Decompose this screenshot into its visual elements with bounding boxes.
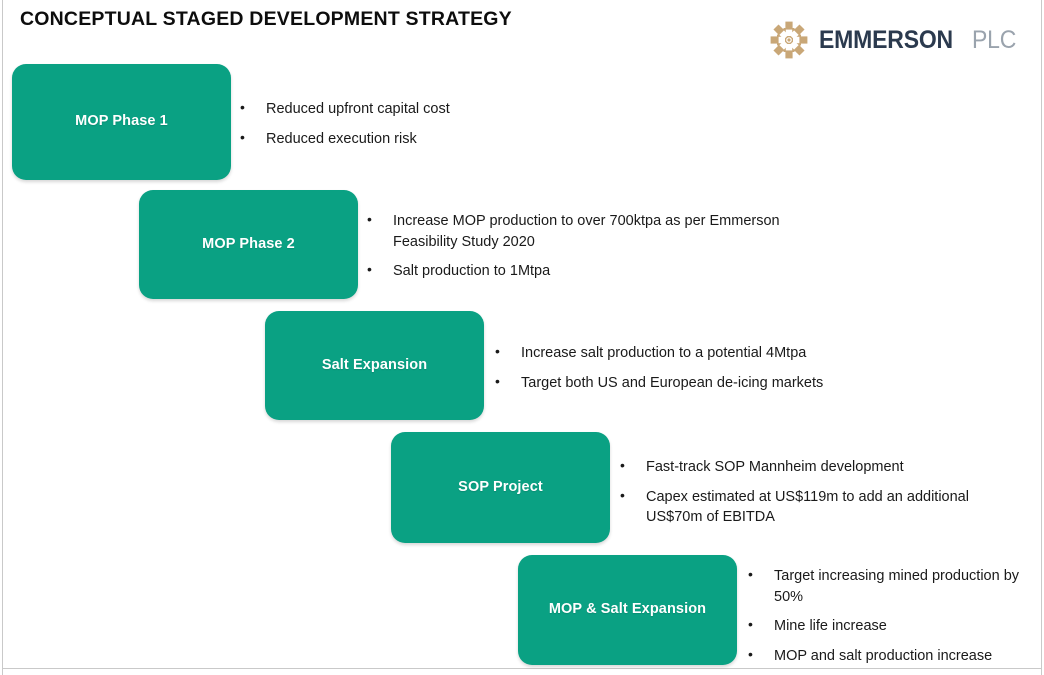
stage-3-box[interactable]: Salt Expansion bbox=[265, 311, 484, 420]
stage-5-label: MOP & Salt Expansion bbox=[549, 601, 706, 618]
list-item: Increase MOP production to over 700ktpa … bbox=[367, 211, 782, 252]
stage-1-bullets: Reduced upfront capital cost Reduced exe… bbox=[240, 99, 570, 149]
stage-4-label: SOP Project bbox=[458, 479, 543, 496]
mandala-rosette-icon bbox=[769, 20, 809, 60]
list-item: Reduced execution risk bbox=[240, 129, 570, 150]
stage-3-bullets: Increase salt production to a potential … bbox=[495, 343, 915, 393]
logo-word-plc: PLC bbox=[972, 26, 1016, 55]
slide-canvas: CONCEPTUAL STAGED DEVELOPMENT STRATEGY bbox=[0, 0, 1044, 675]
stage-5-box[interactable]: MOP & Salt Expansion bbox=[518, 555, 737, 665]
list-item: Reduced upfront capital cost bbox=[240, 99, 570, 120]
stage-2-label: MOP Phase 2 bbox=[202, 236, 295, 253]
company-logo: EMMERSON PLC bbox=[769, 20, 1020, 60]
list-item: Capex estimated at US$119m to add an add… bbox=[620, 487, 1020, 528]
list-item: MOP and salt production increase bbox=[748, 646, 1038, 667]
page-border-left bbox=[2, 0, 3, 675]
logo-wordmark: EMMERSON PLC bbox=[819, 26, 1020, 55]
logo-word-emmerson: EMMERSON bbox=[819, 26, 953, 55]
stage-4-box[interactable]: SOP Project bbox=[391, 432, 610, 543]
list-item: Fast-track SOP Mannheim development bbox=[620, 457, 1020, 478]
list-item: Target increasing mined production by 50… bbox=[748, 566, 1038, 607]
stage-1-label: MOP Phase 1 bbox=[75, 113, 168, 130]
stage-2-box[interactable]: MOP Phase 2 bbox=[139, 190, 358, 299]
list-item: Target both US and European de-icing mar… bbox=[495, 373, 915, 394]
page-title: CONCEPTUAL STAGED DEVELOPMENT STRATEGY bbox=[20, 8, 512, 31]
stage-4-bullets: Fast-track SOP Mannheim development Cape… bbox=[620, 457, 1020, 528]
page-border-bottom bbox=[2, 668, 1042, 669]
list-item: Increase salt production to a potential … bbox=[495, 343, 915, 364]
page-border-right bbox=[1041, 0, 1042, 675]
stage-5-bullets: Target increasing mined production by 50… bbox=[748, 566, 1038, 666]
list-item: Mine life increase bbox=[748, 616, 1038, 637]
list-item: Salt production to 1Mtpa bbox=[367, 261, 782, 282]
stage-1-box[interactable]: MOP Phase 1 bbox=[12, 64, 231, 180]
stage-3-label: Salt Expansion bbox=[322, 357, 427, 374]
stage-2-bullets: Increase MOP production to over 700ktpa … bbox=[367, 211, 782, 282]
